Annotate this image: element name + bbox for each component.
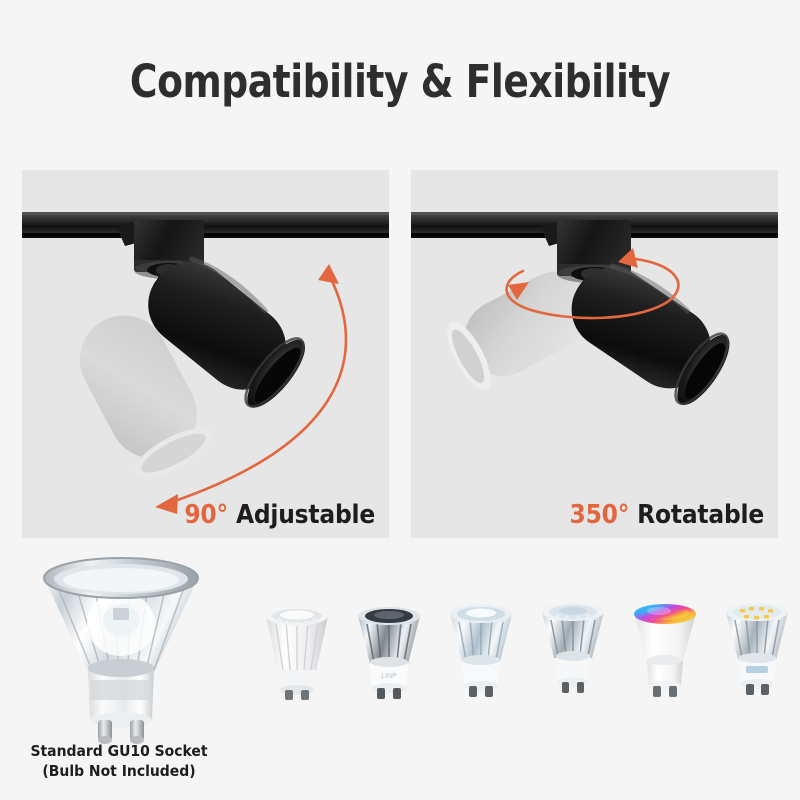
hero-gu10-bulb <box>28 548 214 748</box>
clear-glass-led-bulb <box>442 598 520 704</box>
page-title: Compatibility & Flexibility <box>28 55 772 108</box>
smd-chip-led-bulb <box>718 598 796 704</box>
adjustable-degrees: 90° <box>184 500 228 530</box>
bulb-compatibility-section: Standard GU10 Socket (Bulb Not Included) <box>0 538 800 800</box>
tilt-arrow-head-top <box>318 264 339 284</box>
gu10-socket-caption: Standard GU10 Socket (Bulb Not Included) <box>0 741 238 781</box>
infographic-page: Compatibility & Flexibility <box>0 0 800 800</box>
socket-label-line2: (Bulb Not Included) <box>0 761 238 781</box>
white-ceramic-led-bulb <box>258 598 336 704</box>
svg-text:LINP: LINP <box>381 673 397 680</box>
rotatable-panel: 350° Rotatable <box>411 170 778 538</box>
track-rail <box>22 212 389 238</box>
clear-lens-led-bulb <box>534 598 612 704</box>
rotatable-caption: 350° Rotatable <box>570 500 765 530</box>
compatible-bulb-row: LINP <box>240 598 800 708</box>
adjustable-panel: 90° Adjustable <box>22 170 389 538</box>
rgb-smart-led-bulb <box>626 598 704 704</box>
chrome-reflector-led-bulb: LINP <box>350 598 428 704</box>
adjustable-label: Adjustable <box>228 500 375 530</box>
tilt-arrow-head-bottom <box>155 494 178 514</box>
socket-label-line1: Standard GU10 Socket <box>0 741 238 761</box>
rotatable-degrees: 350° <box>570 500 630 530</box>
adjustable-caption: 90° Adjustable <box>184 500 375 530</box>
rotatable-label: Rotatable <box>629 500 764 530</box>
